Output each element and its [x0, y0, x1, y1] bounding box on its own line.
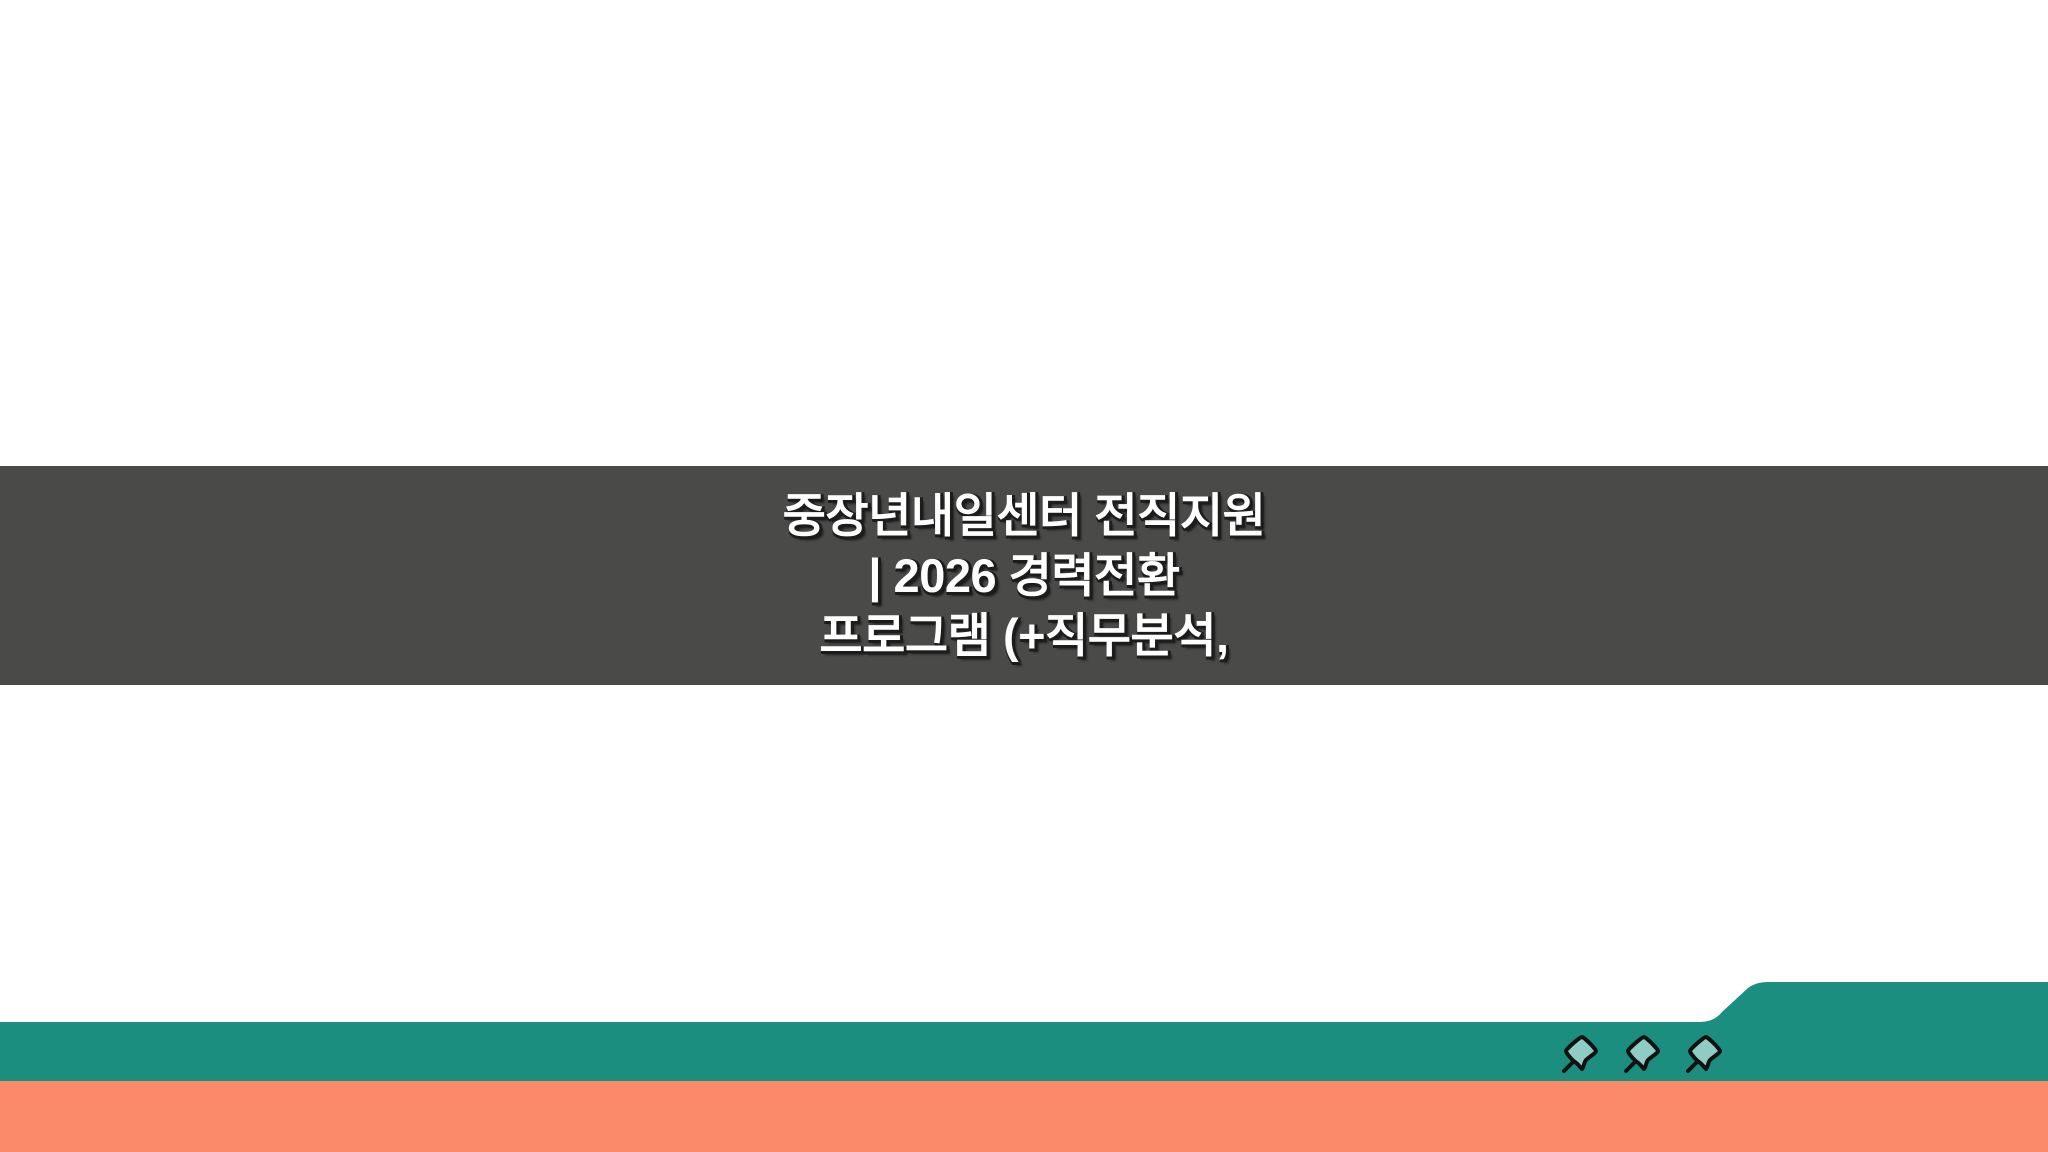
pushpin-icon	[1620, 1031, 1666, 1077]
title-line-2: | 2026 경력전환	[868, 546, 1179, 606]
title-band: 중장년내일센터 전직지원 | 2026 경력전환 프로그램 (+직무분석,	[0, 466, 2048, 685]
pushpin-row	[1558, 1028, 1728, 1080]
bottom-bands-svg	[0, 960, 2048, 1152]
title-line-3: 프로그램 (+직무분석,	[819, 606, 1228, 666]
teal-band-shape	[0, 982, 2048, 1081]
bottom-decoration	[0, 960, 2048, 1152]
title-line-1: 중장년내일센터 전직지원	[783, 486, 1266, 546]
pushpin-icon	[1682, 1031, 1728, 1077]
orange-band-shape	[0, 1081, 2048, 1152]
thumbnail-canvas: 중장년내일센터 전직지원 | 2026 경력전환 프로그램 (+직무분석,	[0, 0, 2048, 1152]
pushpin-icon	[1558, 1031, 1604, 1077]
